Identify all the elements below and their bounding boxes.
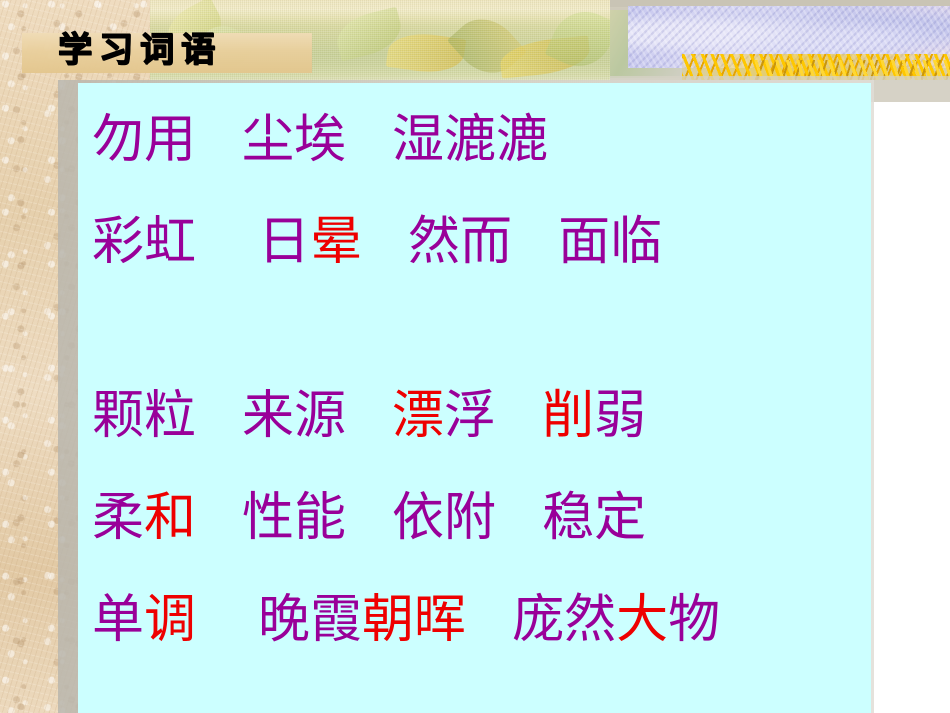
vocabulary-word: 尘埃 xyxy=(242,110,346,170)
vocabulary-word: 弱 xyxy=(594,386,646,446)
vocabulary-word: 单 xyxy=(92,590,144,650)
page-title: 学习词语 xyxy=(58,28,222,72)
vocabulary-word: 庞然 xyxy=(512,590,616,650)
vocabulary-word: 性能 xyxy=(242,488,346,548)
vocabulary-line: 彩虹日晕然而面临 xyxy=(92,191,871,293)
vocabulary-line: 单调晚霞朝晖庞然大物 xyxy=(92,569,871,671)
vocabulary-word: 来源 xyxy=(242,386,346,446)
presentation-slide: 学习词语 勿用尘埃湿漉漉彩虹日晕然而面临颗粒来源漂浮削弱柔和性能依附稳定单调晚霞… xyxy=(0,0,950,713)
vocabulary-word: 物 xyxy=(668,590,720,650)
vocabulary-blank-line xyxy=(92,293,871,365)
vocabulary-word: 浮 xyxy=(444,386,496,446)
vocabulary-word: 面临 xyxy=(558,212,662,272)
vocabulary-line: 柔和性能依附稳定 xyxy=(92,467,871,569)
vocabulary-word: 稳定 xyxy=(542,488,646,548)
vocabulary-word: 和 xyxy=(144,488,196,548)
vocabulary-word: 然而 xyxy=(408,212,512,272)
vocabulary-line: 颗粒来源漂浮削弱 xyxy=(92,365,871,467)
vocabulary-panel: 勿用尘埃湿漉漉彩虹日晕然而面临颗粒来源漂浮削弱柔和性能依附稳定单调晚霞朝晖庞然大… xyxy=(78,83,871,713)
vocabulary-word: 依附 xyxy=(392,488,496,548)
vocabulary-word: 大 xyxy=(616,590,668,650)
vocabulary-word: 日 xyxy=(258,212,310,272)
vocabulary-word: 勿用 xyxy=(92,110,196,170)
vocabulary-word: 晕 xyxy=(310,212,362,272)
vocabulary-word-list: 勿用尘埃湿漉漉彩虹日晕然而面临颗粒来源漂浮削弱柔和性能依附稳定单调晚霞朝晖庞然大… xyxy=(92,89,871,671)
vocabulary-word: 朝晖 xyxy=(362,590,466,650)
vocabulary-word: 颗粒 xyxy=(92,386,196,446)
vocabulary-word: 晚霞 xyxy=(258,590,362,650)
vocabulary-word: 彩虹 xyxy=(92,212,196,272)
vocabulary-word: 调 xyxy=(144,590,196,650)
vocabulary-word: 削 xyxy=(542,386,594,446)
vocabulary-word: 湿漉漉 xyxy=(392,110,548,170)
vocabulary-word: 柔 xyxy=(92,488,144,548)
vocabulary-word: 漂 xyxy=(392,386,444,446)
vocabulary-line: 勿用尘埃湿漉漉 xyxy=(92,89,871,191)
